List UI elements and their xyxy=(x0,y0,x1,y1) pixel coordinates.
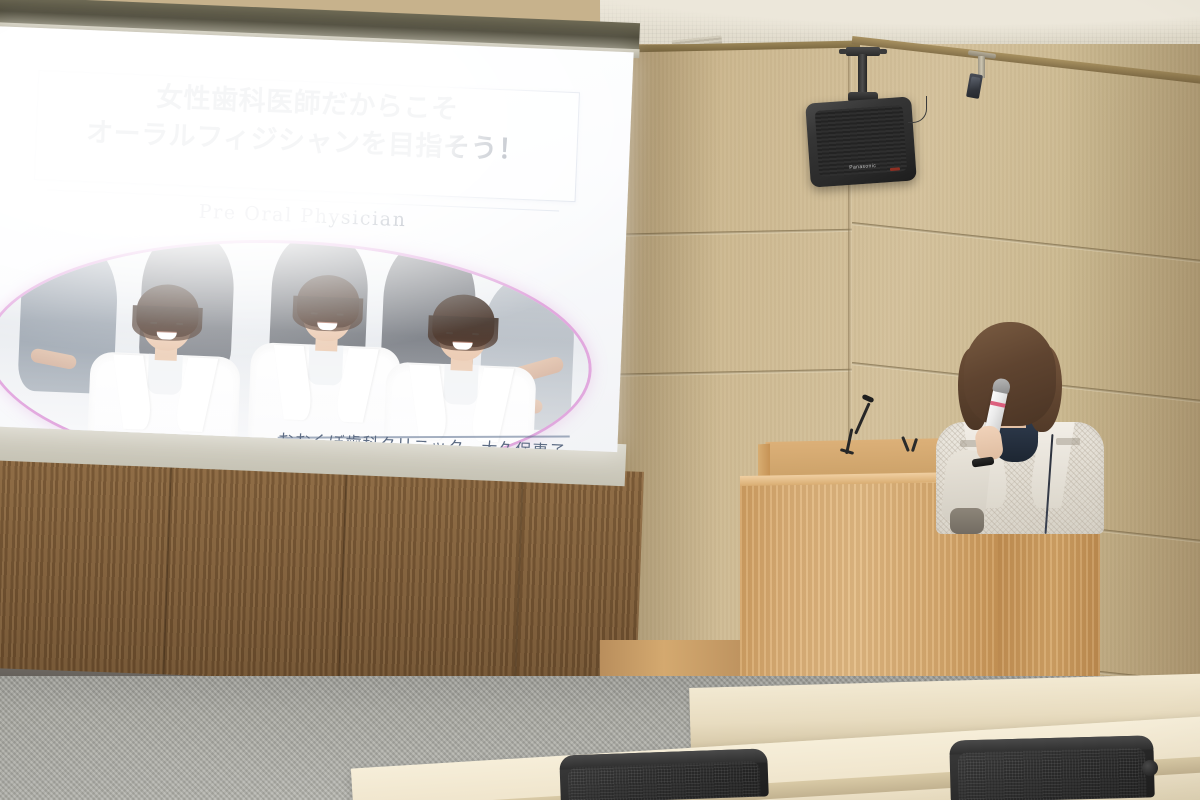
mic-stem xyxy=(911,438,918,452)
mic-stem-upper xyxy=(854,402,871,434)
eye xyxy=(337,313,344,315)
presenter-inner-sleeve xyxy=(950,508,984,534)
conference-chair[interactable] xyxy=(559,748,769,800)
projection-screen[interactable]: 女性歯科医師だからこそ オーラルフィジシャンを目指そう！ Pre Oral Ph… xyxy=(0,26,634,452)
projected-slide: 女性歯科医師だからこそ オーラルフィジシャンを目指そう！ Pre Oral Ph… xyxy=(0,26,634,452)
presentation-room-scene: Panasonic 女性歯科医師だからこそ オーラルフィジシャンを目指そう！ P… xyxy=(0,0,1200,800)
photo-doctor-figure xyxy=(84,289,243,452)
eye xyxy=(446,332,453,334)
presenter-hair xyxy=(964,322,1056,426)
presenter xyxy=(930,322,1110,512)
chair-adjust-knob[interactable] xyxy=(1142,760,1158,776)
camera-lens-icon xyxy=(969,76,980,91)
slide-photo-oval xyxy=(0,231,593,452)
chair-mesh-back xyxy=(958,748,1147,800)
speaker-mount-pole xyxy=(858,54,867,96)
photo-doctor-figure xyxy=(244,280,404,452)
gooseneck-microphone xyxy=(838,400,878,464)
conference-chair[interactable] xyxy=(949,735,1155,800)
photo-doctor-figure xyxy=(380,300,539,452)
secondary-microphone xyxy=(900,436,922,458)
eye xyxy=(176,323,183,325)
eye xyxy=(311,312,318,314)
ceiling-speaker: Panasonic xyxy=(805,96,917,187)
eye xyxy=(150,322,157,324)
mic-stem xyxy=(901,436,910,452)
mic-color-band xyxy=(990,401,1006,408)
chair-mesh-back xyxy=(568,761,761,800)
jacket-pocket-right xyxy=(1056,438,1080,445)
eye xyxy=(472,333,479,335)
